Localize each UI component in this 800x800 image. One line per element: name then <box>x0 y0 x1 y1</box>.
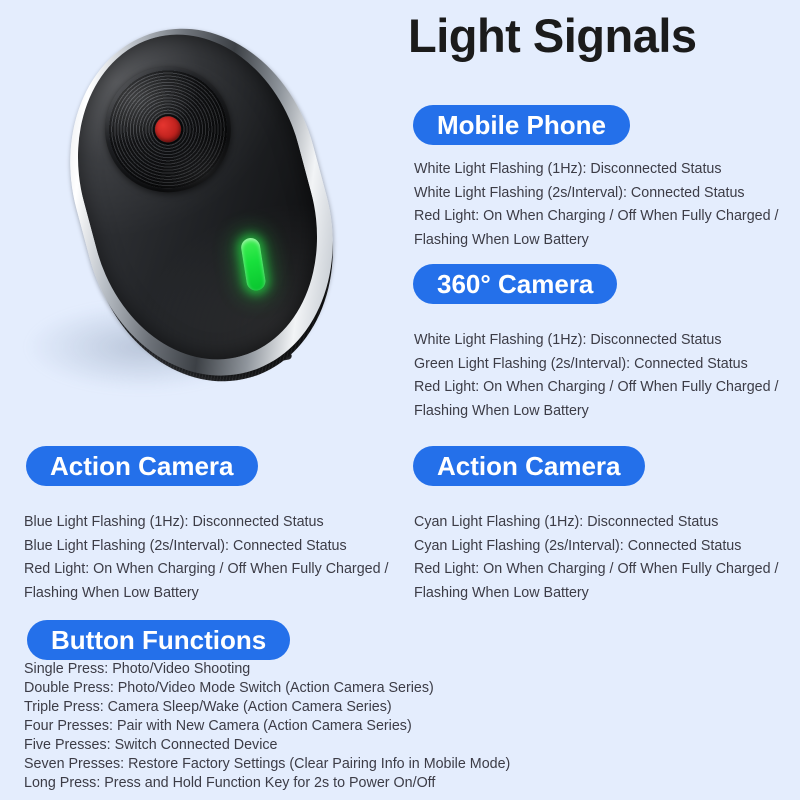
section-text-360-camera: White Light Flashing (1Hz): Disconnected… <box>414 329 779 423</box>
shutter-button-icon <box>91 52 245 206</box>
text-line: Double Press: Photo/Video Mode Switch (A… <box>24 679 510 698</box>
section-text-button-functions: Single Press: Photo/Video Shooting Doubl… <box>24 660 510 793</box>
status-led-indicator <box>240 237 267 292</box>
text-line: Four Presses: Pair with New Camera (Acti… <box>24 717 510 736</box>
text-line: Cyan Light Flashing (2s/Interval): Conne… <box>414 535 779 559</box>
text-line: Flashing When Low Battery <box>414 582 779 606</box>
text-line: Cyan Light Flashing (1Hz): Disconnected … <box>414 511 779 535</box>
section-text-action-camera-cyan: Cyan Light Flashing (1Hz): Disconnected … <box>414 511 779 605</box>
text-line: White Light Flashing (1Hz): Disconnected… <box>414 158 779 182</box>
section-badge-button-functions: Button Functions <box>27 620 290 660</box>
text-line: Single Press: Photo/Video Shooting <box>24 660 510 679</box>
text-line: Red Light: On When Charging / Off When F… <box>24 558 389 582</box>
text-line: Red Light: On When Charging / Off When F… <box>414 376 779 400</box>
text-line: Blue Light Flashing (2s/Interval): Conne… <box>24 535 389 559</box>
text-line: Flashing When Low Battery <box>24 582 389 606</box>
text-line: Flashing When Low Battery <box>414 400 779 424</box>
section-badge-360-camera: 360° Camera <box>413 264 617 304</box>
infographic-page: Light Signals Mobile Phone White Light F… <box>0 0 800 800</box>
section-badge-mobile-phone: Mobile Phone <box>413 105 630 145</box>
text-line: Flashing When Low Battery <box>414 229 779 253</box>
text-line: White Light Flashing (1Hz): Disconnected… <box>414 329 779 353</box>
page-title: Light Signals <box>408 8 697 63</box>
text-line: Red Light: On When Charging / Off When F… <box>414 558 779 582</box>
text-line: Five Presses: Switch Connected Device <box>24 736 510 755</box>
section-badge-action-camera-cyan: Action Camera <box>413 446 645 486</box>
section-text-mobile-phone: White Light Flashing (1Hz): Disconnected… <box>414 158 779 252</box>
device-illustration <box>18 8 408 433</box>
text-line: Long Press: Press and Hold Function Key … <box>24 774 510 793</box>
section-text-action-camera-blue: Blue Light Flashing (1Hz): Disconnected … <box>24 511 389 605</box>
text-line: Red Light: On When Charging / Off When F… <box>414 205 779 229</box>
text-line: White Light Flashing (2s/Interval): Conn… <box>414 182 779 206</box>
section-badge-action-camera-blue: Action Camera <box>26 446 258 486</box>
text-line: Triple Press: Camera Sleep/Wake (Action … <box>24 698 510 717</box>
text-line: Green Light Flashing (2s/Interval): Conn… <box>414 353 779 377</box>
text-line: Blue Light Flashing (1Hz): Disconnected … <box>24 511 389 535</box>
text-line: Seven Presses: Restore Factory Settings … <box>24 755 510 774</box>
